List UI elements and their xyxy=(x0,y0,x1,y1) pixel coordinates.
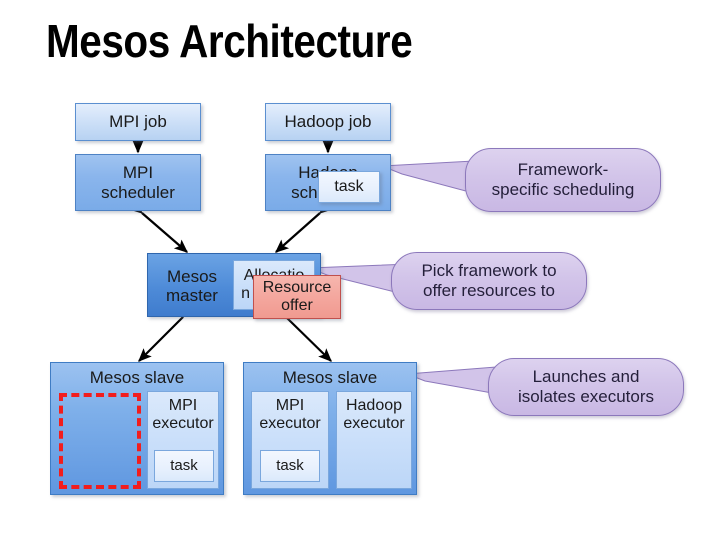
mesos-master-label-line2: master xyxy=(166,286,218,305)
mpi-executor-left-task-label: task xyxy=(170,458,198,475)
mpi-executor-box-left[interactable]: MPI executor task xyxy=(147,391,219,489)
mpi-job-label: MPI job xyxy=(109,112,167,131)
mpi-scheduler-box[interactable]: MPI scheduler xyxy=(75,154,201,211)
hadoop-job-box[interactable]: Hadoop job xyxy=(265,103,391,141)
callout-launches-isolates[interactable]: Launches and isolates executors xyxy=(488,358,684,416)
hadoop-scheduler-task-label: task xyxy=(334,178,363,196)
mesos-slave-right-label: Mesos slave xyxy=(244,368,416,387)
page-title: Mesos Architecture xyxy=(46,14,412,68)
resource-offer-box[interactable]: Resource offer xyxy=(253,275,341,319)
mpi-executor-box-right[interactable]: MPI executor task xyxy=(251,391,329,489)
callout-framework-specific-scheduling[interactable]: Framework- specific scheduling xyxy=(465,148,661,212)
hadoop-scheduler-task-box[interactable]: task xyxy=(318,171,380,203)
mesos-slave-left-box[interactable]: Mesos slave MPI executor task xyxy=(50,362,224,495)
callout-launches-line2: isolates executors xyxy=(518,387,654,407)
mesos-master-label-line1: Mesos xyxy=(167,267,217,286)
callout-pick-line1: Pick framework to xyxy=(421,261,556,281)
mesos-slave-left-free-resources-placeholder xyxy=(59,393,141,489)
mpi-executor-right-label-line2: executor xyxy=(259,415,320,433)
callout-pick-line2: offer resources to xyxy=(423,281,555,301)
callout-framework-line2: specific scheduling xyxy=(492,180,635,200)
hadoop-executor-right-label-line2: executor xyxy=(343,415,404,433)
mesos-slave-left-label: Mesos slave xyxy=(51,368,223,387)
slide-canvas: Mesos Architecture MP xyxy=(0,0,721,540)
hadoop-executor-right-label-line1: Hadoop xyxy=(346,397,402,415)
mpi-executor-right-label-line1: MPI xyxy=(276,397,304,415)
hadoop-job-label: Hadoop job xyxy=(285,112,372,131)
resource-offer-label-line2: offer xyxy=(281,297,313,315)
mpi-job-box[interactable]: MPI job xyxy=(75,103,201,141)
callout-framework-line1: Framework- xyxy=(518,160,609,180)
mpi-scheduler-label-line1: MPI xyxy=(123,163,153,182)
mpi-executor-right-task-label: task xyxy=(276,458,304,475)
callout-pick-framework[interactable]: Pick framework to offer resources to xyxy=(391,252,587,310)
callout-launches-line1: Launches and xyxy=(533,367,640,387)
mpi-executor-left-task-box[interactable]: task xyxy=(154,450,214,482)
hadoop-executor-box-right[interactable]: Hadoop executor xyxy=(336,391,412,489)
mpi-executor-right-task-box[interactable]: task xyxy=(260,450,320,482)
mpi-scheduler-label-line2: scheduler xyxy=(101,183,175,202)
mesos-slave-right-box[interactable]: Mesos slave MPI executor task Hadoop exe… xyxy=(243,362,417,495)
mesos-master-label: Mesos master xyxy=(156,262,228,310)
mpi-executor-left-label-line2: executor xyxy=(152,415,213,433)
mpi-executor-left-label-line1: MPI xyxy=(169,397,197,415)
resource-offer-label-line1: Resource xyxy=(263,279,331,297)
